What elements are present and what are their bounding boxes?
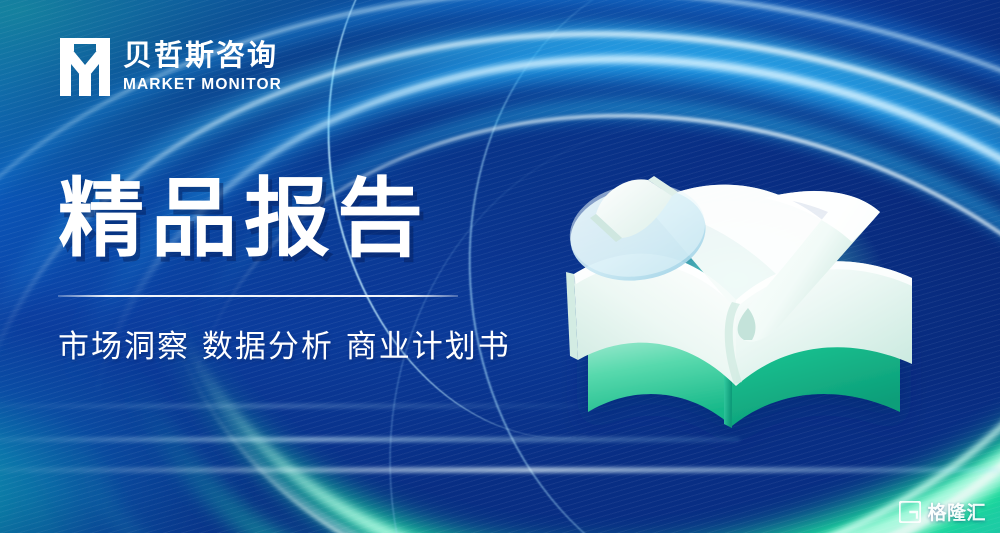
promo-banner: 贝哲斯咨询 MARKET MONITOR 精品报告 市场洞察 数据分析 商业计划…	[0, 0, 1000, 533]
brand-logo-text: 贝哲斯咨询 MARKET MONITOR	[123, 39, 282, 95]
open-book-illustration	[536, 150, 956, 450]
watermark-text: 格隆汇	[927, 498, 986, 525]
market-monitor-m-logo	[60, 38, 110, 96]
gelonghui-g-icon	[899, 501, 921, 523]
brand-logo: 贝哲斯咨询 MARKET MONITOR	[60, 38, 282, 96]
brand-name-cn: 贝哲斯咨询	[123, 39, 282, 71]
title-divider	[58, 295, 458, 297]
page-title: 精品报告	[58, 176, 511, 262]
watermark: 格隆汇	[899, 498, 986, 525]
hero-subtitle: 市场洞察 数据分析 商业计划书	[58, 321, 511, 366]
hero-text-block: 精品报告 市场洞察 数据分析 商业计划书	[58, 176, 511, 366]
brand-name-en: MARKET MONITOR	[123, 75, 282, 95]
